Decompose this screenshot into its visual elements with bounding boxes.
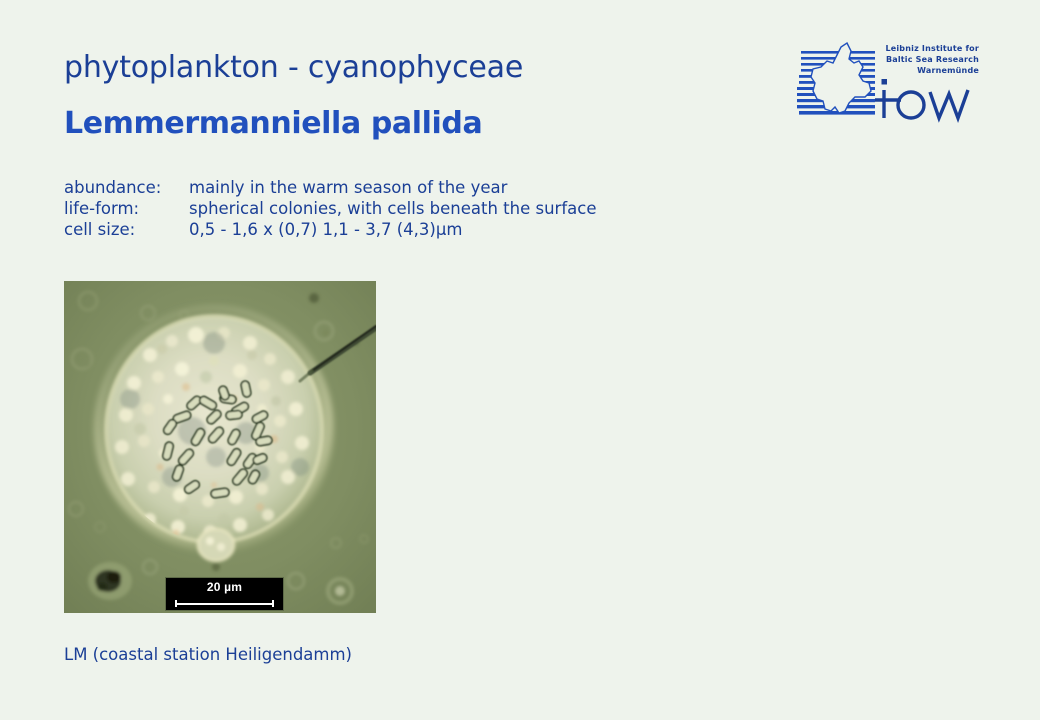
fact-label-cell-size: cell size: xyxy=(64,219,189,240)
iow-logo: Leibniz Institute for Baltic Sea Researc… xyxy=(797,41,979,125)
fact-value-cell-size: 0,5 - 1,6 x (0,7) 1,1 - 3,7 (4,3)µm xyxy=(189,219,597,240)
logo-line-2: Baltic Sea Research xyxy=(881,54,979,65)
image-caption: LM (coastal station Heiligendamm) xyxy=(64,645,352,664)
scale-bar: 20 µm xyxy=(165,577,284,611)
fact-row-cell-size: cell size: 0,5 - 1,6 x (0,7) 1,1 - 3,7 (… xyxy=(64,219,597,240)
scale-bar-label: 20 µm xyxy=(166,580,283,594)
page-title-species: Lemmermanniella pallida xyxy=(64,106,482,141)
fact-label-abundance: abundance: xyxy=(64,177,189,198)
fact-row-abundance: abundance: mainly in the warm season of … xyxy=(64,177,597,198)
scale-bar-line xyxy=(175,603,274,605)
page-title-group: phytoplankton - cyanophyceae xyxy=(64,50,523,85)
baltic-sea-map-icon xyxy=(797,41,879,123)
iow-wordmark-icon xyxy=(875,74,979,124)
fact-list: abundance: mainly in the warm season of … xyxy=(64,177,597,240)
micrograph-image: 20 µm xyxy=(64,281,376,613)
scale-bar-cap-right xyxy=(272,600,274,607)
fact-value-abundance: mainly in the warm season of the year xyxy=(189,177,597,198)
slide-root: phytoplankton - cyanophyceae Lemmermanni… xyxy=(0,0,1040,720)
scale-bar-rule xyxy=(175,600,274,607)
fact-label-life-form: life-form: xyxy=(64,198,189,219)
logo-line-1: Leibniz Institute for xyxy=(881,43,979,54)
logo-institute-name: Leibniz Institute for Baltic Sea Researc… xyxy=(881,43,979,76)
micrograph-canvas xyxy=(64,281,376,613)
fact-row-life-form: life-form: spherical colonies, with cell… xyxy=(64,198,597,219)
fact-value-life-form: spherical colonies, with cells beneath t… xyxy=(189,198,597,219)
